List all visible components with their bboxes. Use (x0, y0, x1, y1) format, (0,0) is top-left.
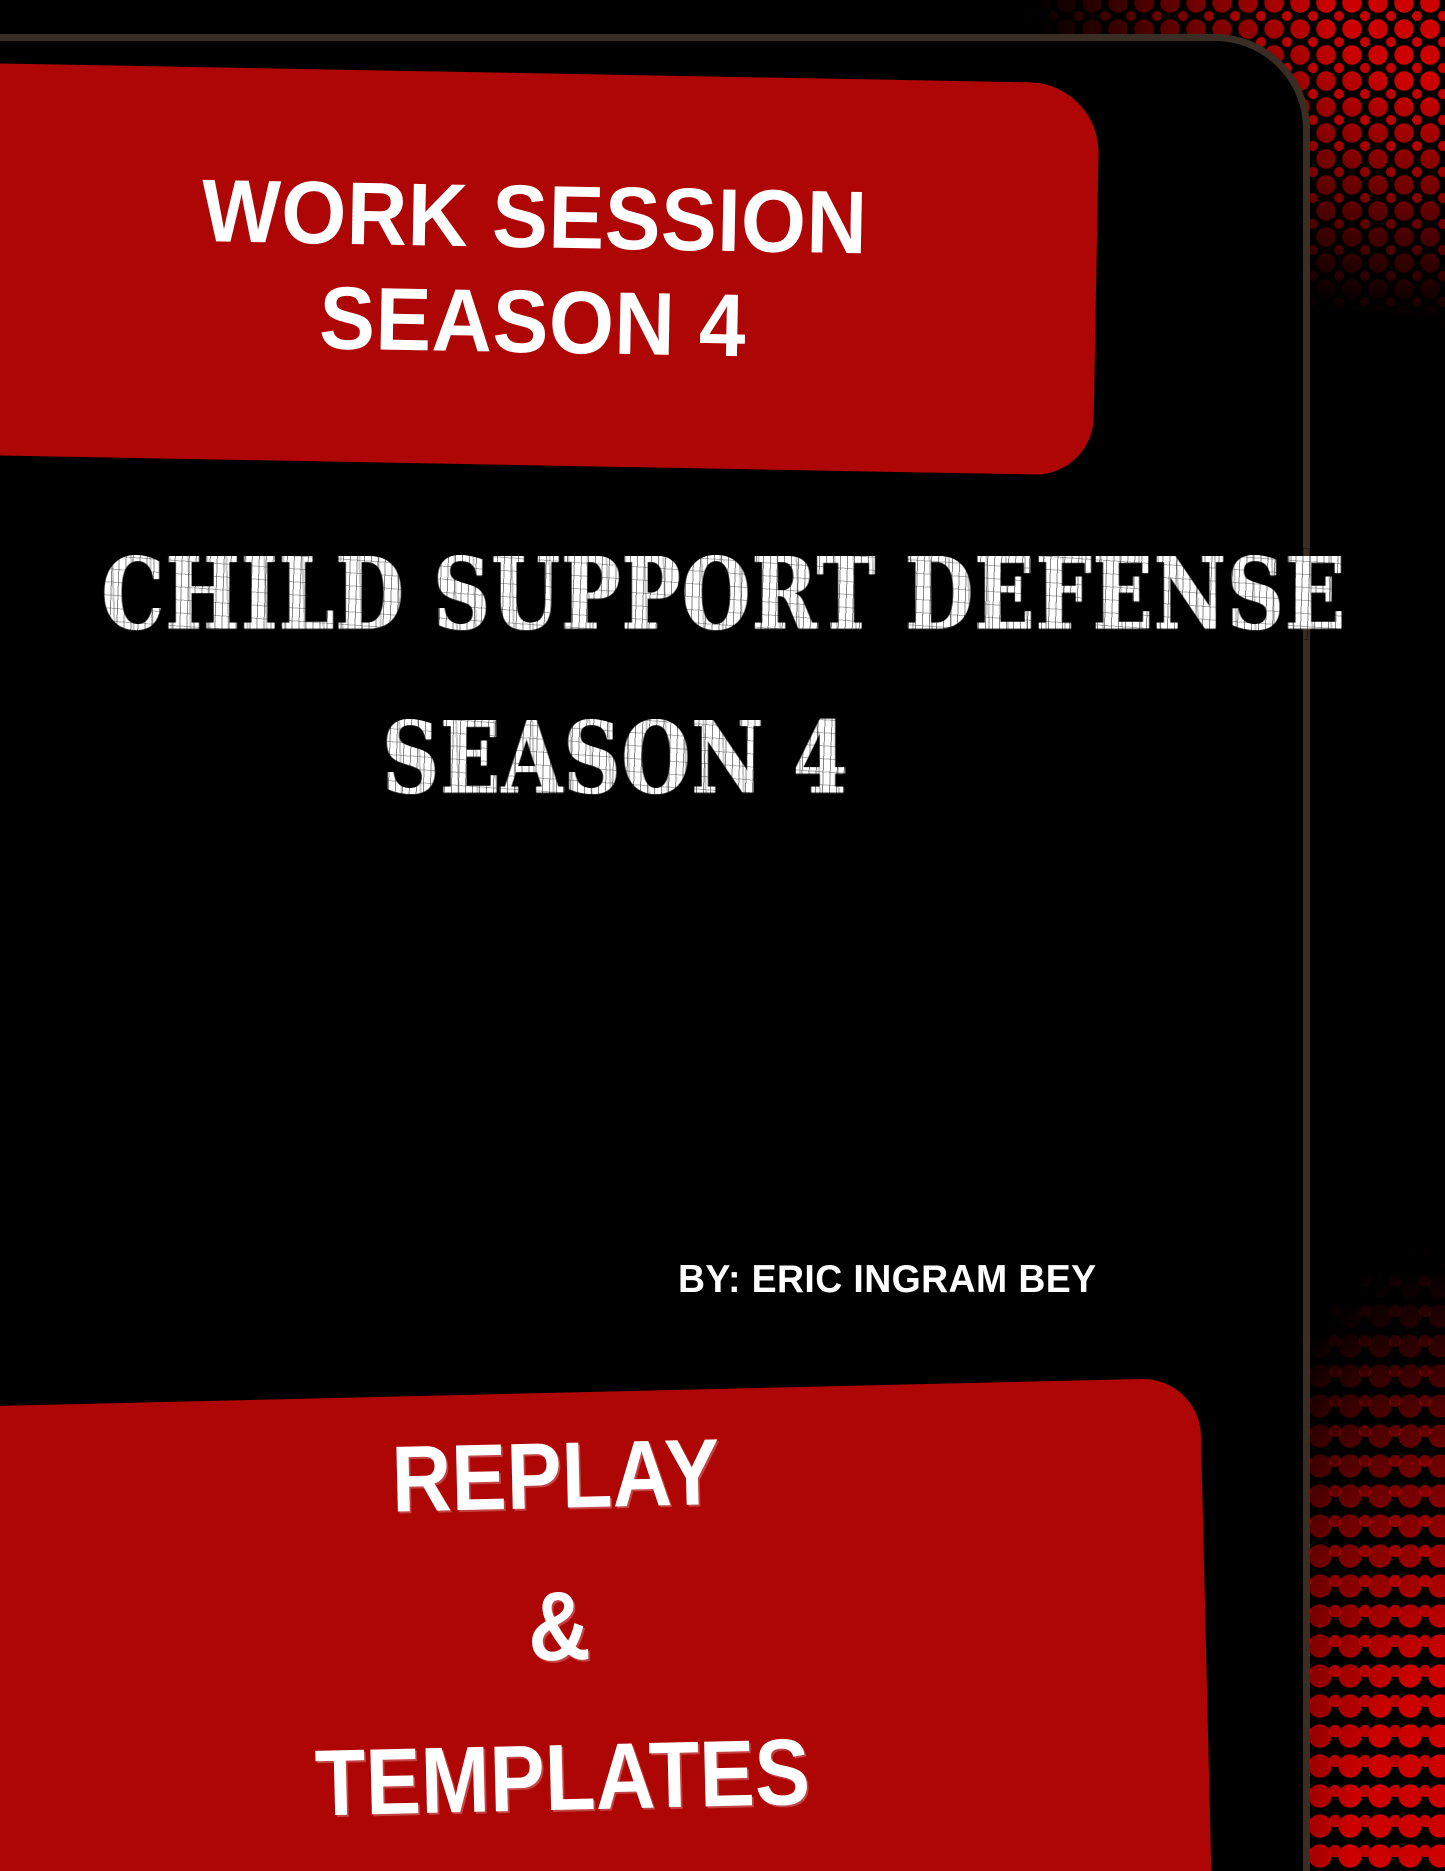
author-credit: BY: ERIC INGRAM BEY (678, 1258, 1096, 1302)
center-title-block: CHILD SUPPORT DEFENSE SEASON 4 (0, 548, 1230, 804)
poster-canvas: WORK SESSION SEASON 4 CHILD SUPPORT DEFE… (0, 0, 1445, 1871)
bottom-banner-line-1: REPLAY (293, 1425, 720, 1529)
main-subtitle-wrap: SEASON 4 (344, 640, 887, 804)
bottom-banner-line-3: TEMPLATES (217, 1725, 811, 1833)
bottom-banner-line-2: & (430, 1576, 591, 1678)
page-title: CHILD SUPPORT DEFENSE (101, 544, 1346, 643)
main-title-wrap: CHILD SUPPORT DEFENSE (0, 548, 1445, 640)
bottom-banner-text-block: REPLAY & TEMPLATES (0, 1380, 1111, 1871)
top-banner-line-2: SEASON 4 (264, 264, 747, 378)
top-black-strip (0, 0, 1000, 34)
top-red-banner: WORK SESSION SEASON 4 (0, 62, 1100, 476)
top-banner-line-1: WORK SESSION (146, 157, 868, 275)
page-subtitle: SEASON 4 (382, 708, 849, 807)
